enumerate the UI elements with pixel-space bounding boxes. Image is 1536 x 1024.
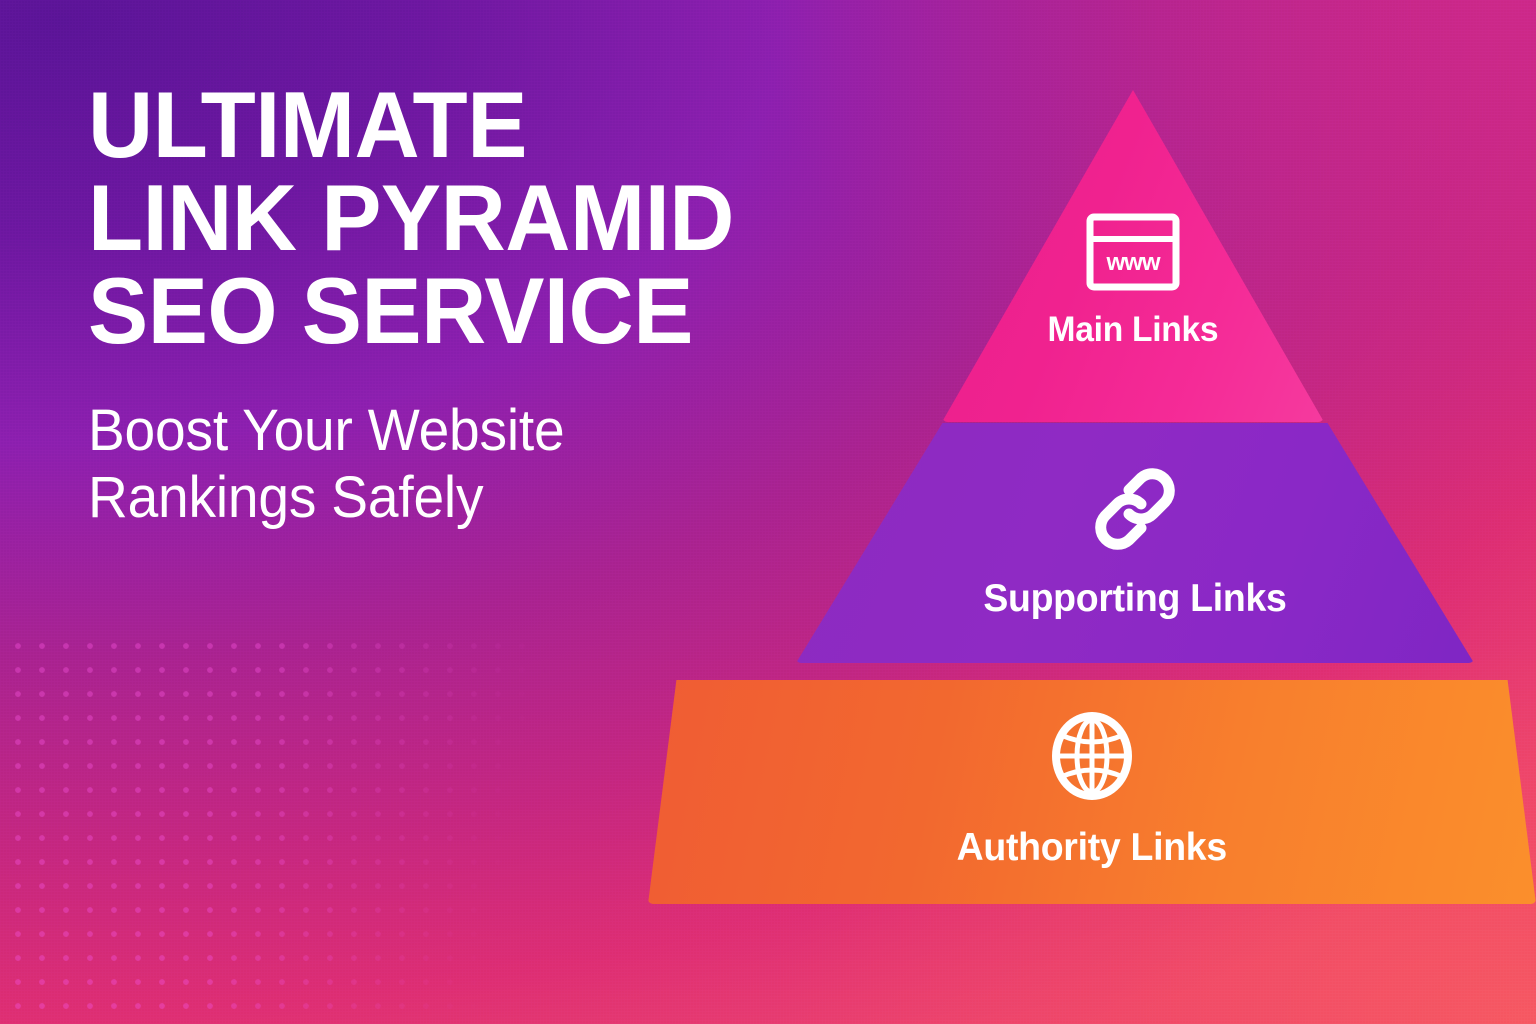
- pyramid-tier-main-links: www Main Links: [942, 90, 1324, 422]
- link-pyramid-diagram: www Main Links Supporting Links: [628, 78, 1536, 924]
- globe-icon: [1047, 708, 1137, 804]
- pyramid-tier-supporting-links-label: Supporting Links: [983, 577, 1286, 621]
- svg-text:www: www: [1105, 249, 1160, 276]
- pyramid-tier-authority-links-label: Authority Links: [957, 826, 1227, 870]
- promo-banner: ULTIMATE LINK PYRAMID SEO SERVICE Boost …: [0, 0, 1536, 1024]
- pyramid-tier-authority-links: Authority Links: [648, 680, 1536, 904]
- pyramid-tier-main-links-label: Main Links: [1048, 310, 1219, 350]
- chain-link-icon: [1089, 463, 1181, 555]
- browser-window-www-icon: www: [1085, 212, 1181, 292]
- pyramid-tier-supporting-links: Supporting Links: [796, 423, 1474, 663]
